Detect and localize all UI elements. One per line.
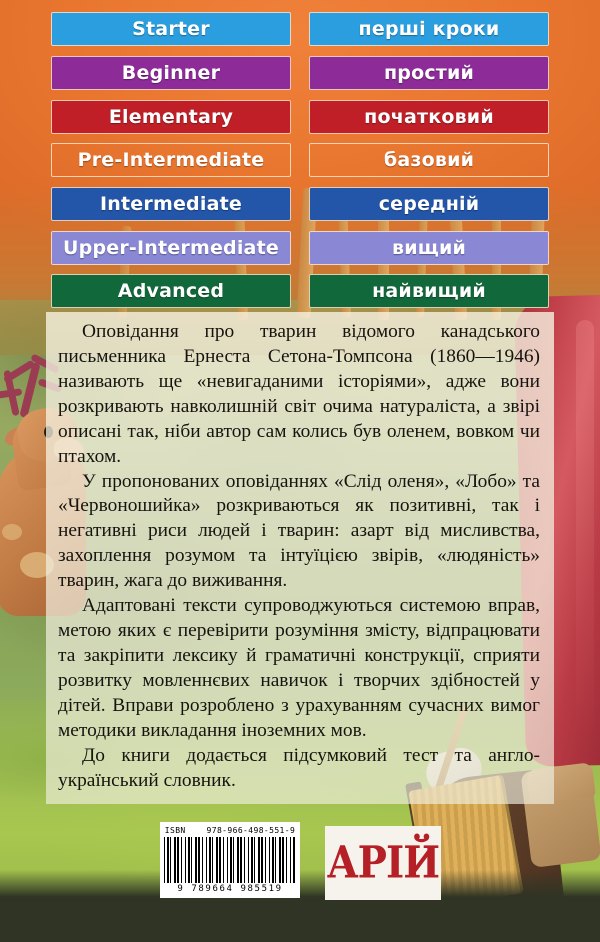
barcode-digits: 9 789664 985519 bbox=[164, 884, 296, 894]
level-row: Starterперші кроки bbox=[51, 12, 549, 46]
level-chart: Starterперші крокиBeginnerпростийElement… bbox=[0, 0, 600, 310]
description-panel: Оповідання про тварин відомого канадсько… bbox=[46, 312, 554, 804]
level-name-en: Intermediate bbox=[51, 187, 291, 221]
description-paragraph: Адаптовані тексти супроводжуються систем… bbox=[58, 594, 540, 744]
level-name-uk: вищий bbox=[309, 231, 549, 265]
description-paragraph: У пропонованих оповіданнях «Слід оленя»,… bbox=[58, 470, 540, 595]
level-row: Intermediateсередній bbox=[51, 187, 549, 221]
level-name-uk: перші кроки bbox=[309, 12, 549, 46]
level-name-uk: простий bbox=[309, 56, 549, 90]
level-name-en: Pre-Intermediate bbox=[51, 143, 291, 177]
description-text: Оповідання про тварин відомого канадсько… bbox=[46, 312, 554, 794]
isbn-line: ISBN 978-966-498-551-9 bbox=[164, 826, 296, 835]
level-name-uk: середній bbox=[309, 187, 549, 221]
level-name-en: Upper-Intermediate bbox=[51, 231, 291, 265]
cloak-highlight bbox=[576, 320, 594, 740]
publisher-logo: АРІЙ bbox=[325, 826, 441, 900]
book-back-cover: Starterперші крокиBeginnerпростийElement… bbox=[0, 0, 600, 942]
description-paragraph: Оповідання про тварин відомого канадсько… bbox=[58, 320, 540, 470]
level-name-uk: базовий bbox=[309, 143, 549, 177]
publisher-name: АРІЙ bbox=[327, 841, 439, 885]
isbn-number: 978-966-498-551-9 bbox=[207, 826, 296, 835]
isbn-barcode: ISBN 978-966-498-551-9 9 789664 985519 bbox=[160, 822, 300, 898]
level-name-en: Elementary bbox=[51, 100, 291, 134]
isbn-label: ISBN bbox=[165, 826, 186, 835]
level-name-en: Beginner bbox=[51, 56, 291, 90]
level-name-en: Starter bbox=[51, 12, 291, 46]
level-row: Pre-Intermediateбазовий bbox=[51, 143, 549, 177]
barcode-bars bbox=[164, 837, 296, 883]
description-paragraph: До книги додається підсумковий тест та а… bbox=[58, 744, 540, 794]
level-name-uk: початковий bbox=[309, 100, 549, 134]
level-row: Elementaryпочатковий bbox=[51, 100, 549, 134]
level-row: Beginnerпростий bbox=[51, 56, 549, 90]
level-row: Upper-Intermediateвищий bbox=[51, 231, 549, 265]
deer-marking bbox=[2, 524, 22, 540]
level-name-uk: найвищий bbox=[309, 274, 549, 308]
bush-silhouettes bbox=[0, 792, 600, 942]
level-row: Advancedнайвищий bbox=[51, 274, 549, 308]
level-name-en: Advanced bbox=[51, 274, 291, 308]
